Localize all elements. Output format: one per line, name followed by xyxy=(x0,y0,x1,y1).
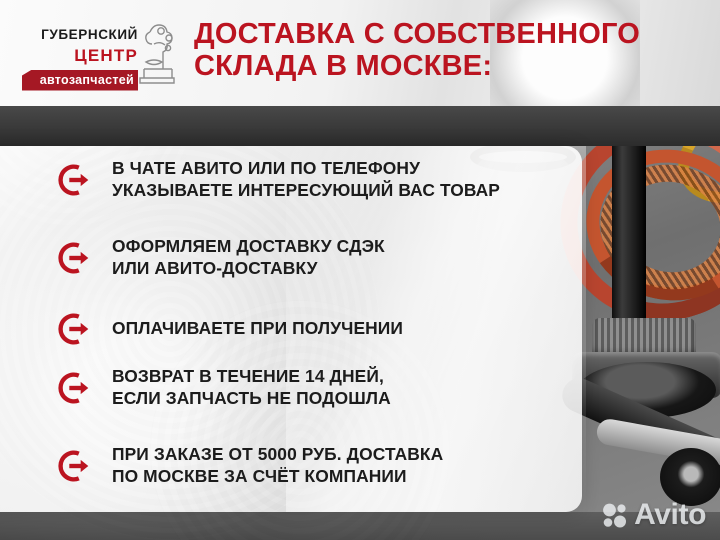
black-pipe xyxy=(612,128,646,328)
avito-dots-icon xyxy=(602,502,629,529)
logo-line-gubernsky: ГУБЕРНСКИЙ xyxy=(22,28,138,42)
list-item: ВОЗВРАТ В ТЕЧЕНИЕ 14 ДНЕЙ, ЕСЛИ ЗАПЧАСТЬ… xyxy=(56,366,391,410)
avito-label: Avito xyxy=(634,500,706,530)
list-item: ОФОРМЛЯЕМ ДОСТАВКУ СДЭК ИЛИ АВИТО-ДОСТАВ… xyxy=(56,236,385,280)
list-item: ОПЛАЧИВАЕТЕ ПРИ ПОЛУЧЕНИИ xyxy=(56,310,403,348)
list-item-label: ОПЛАЧИВАЕТЕ ПРИ ПОЛУЧЕНИИ xyxy=(112,318,403,340)
delivery-info-banner: ГУБЕРНСКИЙ ЦЕНТР автозапчастей xyxy=(0,0,720,540)
avito-watermark: Avito xyxy=(602,500,706,530)
company-logo: ГУБЕРНСКИЙ ЦЕНТР автозапчастей xyxy=(22,22,180,88)
benefits-list: В ЧАТЕ АВИТО ИЛИ ПО ТЕЛЕФОНУ УКАЗЫВАЕТЕ … xyxy=(0,146,580,512)
company-logo-text: ГУБЕРНСКИЙ ЦЕНТР автозапчастей xyxy=(22,22,138,91)
arrow-out-circle-icon xyxy=(56,310,94,348)
logo-red-banner: автозапчастей xyxy=(22,70,138,91)
logo-line-center: ЦЕНТР xyxy=(22,47,138,64)
page-title: ДОСТАВКА С СОБСТВЕННОГО СКЛАДА В МОСКВЕ: xyxy=(194,18,704,83)
logo-line-autoparts: автозапчастей xyxy=(40,74,134,87)
list-item-label: ПРИ ЗАКАЗЕ ОТ 5000 РУБ. ДОСТАВКА ПО МОСК… xyxy=(112,444,443,488)
arrow-out-circle-icon xyxy=(56,447,94,485)
arrow-out-circle-icon xyxy=(56,369,94,407)
arrow-out-circle-icon xyxy=(56,161,94,199)
list-item-label: ВОЗВРАТ В ТЕЧЕНИЕ 14 ДНЕЙ, ЕСЛИ ЗАПЧАСТЬ… xyxy=(112,366,391,410)
list-item: ПРИ ЗАКАЗЕ ОТ 5000 РУБ. ДОСТАВКА ПО МОСК… xyxy=(56,444,443,488)
list-item: В ЧАТЕ АВИТО ИЛИ ПО ТЕЛЕФОНУ УКАЗЫВАЕТЕ … xyxy=(56,158,500,202)
list-item-label: В ЧАТЕ АВИТО ИЛИ ПО ТЕЛЕФОНУ УКАЗЫВАЕТЕ … xyxy=(112,158,500,202)
arrow-out-circle-icon xyxy=(56,239,94,277)
dark-divider-band xyxy=(0,104,720,146)
list-item-label: ОФОРМЛЯЕМ ДОСТАВКУ СДЭК ИЛИ АВИТО-ДОСТАВ… xyxy=(112,236,385,280)
header-bar: ГУБЕРНСКИЙ ЦЕНТР автозапчастей xyxy=(0,0,720,106)
microscope-engine-outline-icon xyxy=(134,22,180,93)
